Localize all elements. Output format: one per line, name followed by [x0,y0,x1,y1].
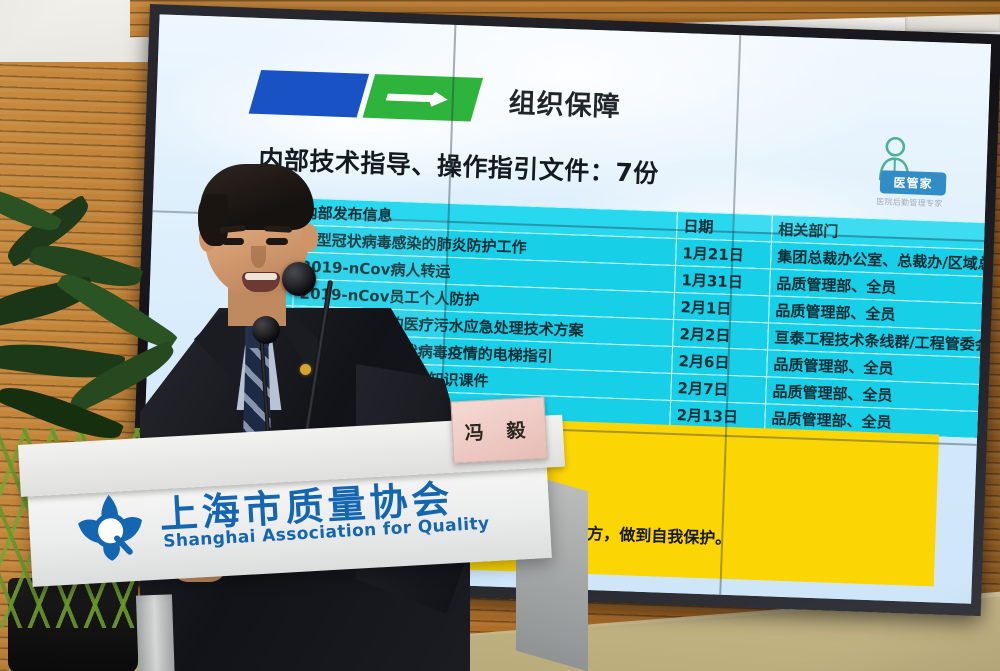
brand-logo-tagline: 医院后勤管理专家 [865,196,953,210]
speaker-nose [251,246,266,268]
saq-lotus-logo-icon [70,489,150,565]
speaker-nameplate: 冯 毅 [450,397,547,464]
speaker-lapel-pin [300,364,311,375]
speaker-ear-right [301,224,318,252]
speaker-eye-left [222,238,244,245]
table-cell-date: 2月1日 [674,292,770,322]
brand-logo: 医管家 医院后勤管理专家 [859,136,954,213]
speaker-eye-right [266,238,288,245]
microphone-head-2 [252,316,280,344]
table-cell-date: 1月31日 [675,265,771,295]
speaker-teeth [245,273,277,280]
podium: 上海市质量协会 Shanghai Association for Quality [18,445,578,671]
screenshot-root: 组织保障 内部技术指导、操作指引文件：7份 医管家 医院后勤管理专家 [0,0,1000,671]
speaker-nameplate-text: 冯 毅 [464,415,534,446]
chevron-blue-shape [249,70,369,117]
slide-section-title: 组织保障 [508,81,621,124]
brand-logo-badge-text: 医管家 [893,174,933,192]
table-cell-date: 2月2日 [673,319,769,349]
podium-column [136,594,176,671]
table-cell-date: 1月21日 [675,238,771,268]
microphone-head-1 [282,262,316,296]
table-cell-date: 2月7日 [671,373,767,403]
brand-logo-badge: 医管家 [880,170,947,195]
table-header-date: 日期 [676,211,772,241]
table-cell-date: 2月6日 [672,346,768,376]
